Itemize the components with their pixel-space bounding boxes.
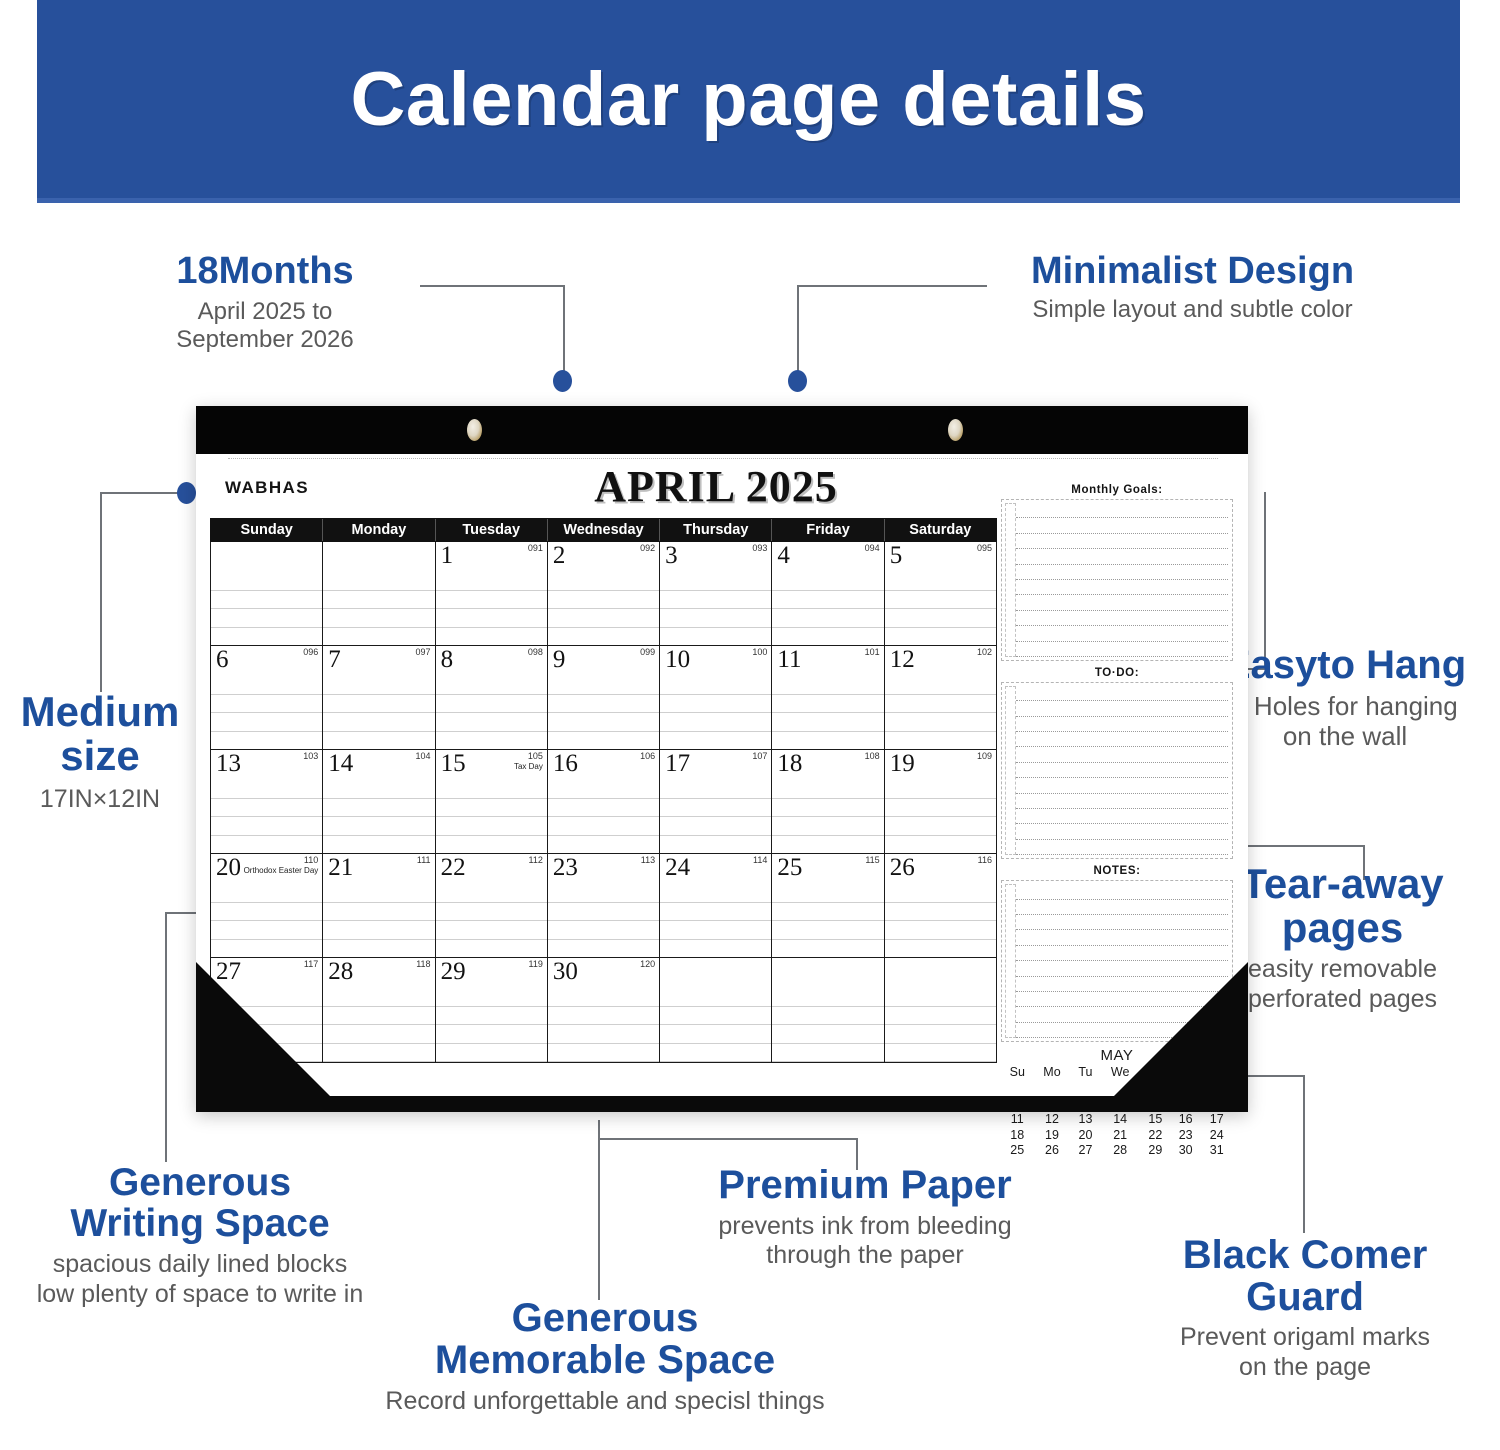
day-number: 24 <box>665 855 690 880</box>
dotted-write-line <box>1016 900 1228 915</box>
day-number: 18 <box>777 751 802 776</box>
day-cell[interactable]: 1091 <box>436 542 548 645</box>
callout-medium-size: Medium size 17IN×12IN <box>0 690 200 815</box>
callout-sub-guard: Prevent origaml marks on the page <box>1110 1323 1500 1382</box>
day-cell[interactable]: 26116 <box>885 854 996 957</box>
day-cell[interactable]: 29119 <box>436 958 548 1062</box>
writing-lines <box>772 884 883 957</box>
mini-day-cell: 17 <box>1200 1111 1233 1127</box>
callout-title-premium: Premium Paper <box>655 1165 1075 1207</box>
day-cell[interactable]: 19109 <box>885 750 996 853</box>
julian-day-number: 095 <box>977 544 992 553</box>
weekday-header-monday: Monday <box>323 519 435 541</box>
leader-line-minimalist-h <box>797 285 987 287</box>
day-cell[interactable]: 20110Orthodox Easter Day <box>211 854 323 957</box>
day-cell[interactable]: 4094 <box>772 542 884 645</box>
day-number: 5 <box>890 543 903 568</box>
hanging-hole-icon-left <box>467 419 482 441</box>
dotted-write-line <box>1016 809 1228 824</box>
day-number: 12 <box>890 647 915 672</box>
julian-day-number: 101 <box>865 648 880 657</box>
callout-title-memorable: Generous Memorable Space <box>325 1298 885 1381</box>
day-number: 15 <box>441 751 466 776</box>
julian-day-number: 109 <box>977 752 992 761</box>
day-cell[interactable]: 23113 <box>548 854 660 957</box>
writing-lines <box>211 780 322 853</box>
dotted-write-line <box>1016 626 1228 641</box>
day-cell[interactable]: 11101 <box>772 646 884 749</box>
mini-weekday-tu: Tu <box>1070 1064 1100 1080</box>
callout-sub-minimalist: Simple layout and subtle color <box>970 296 1415 324</box>
day-cell[interactable]: 30120 <box>548 958 660 1062</box>
calendar-product-image: WABHAS APRIL 2025 SundayMondayTuesdayWed… <box>196 406 1248 1112</box>
day-cell[interactable]: 22112 <box>436 854 548 957</box>
writing-lines <box>660 884 771 957</box>
mini-day-cell: 18 <box>1001 1127 1034 1143</box>
calendar-bottom-black-bar <box>196 1096 1248 1112</box>
julian-day-number: 110 <box>304 856 318 865</box>
day-number: 29 <box>441 959 466 984</box>
day-cell[interactable]: 13103 <box>211 750 323 853</box>
writing-lines <box>885 988 996 1062</box>
mini-day-cell: 26 <box>1034 1143 1071 1159</box>
writing-lines <box>548 988 659 1062</box>
julian-day-number: 099 <box>640 648 655 657</box>
day-number: 14 <box>328 751 353 776</box>
julian-day-number: 098 <box>528 648 543 657</box>
monthly-goals-label: Monthly Goals: <box>1001 484 1233 499</box>
calendar-week-row: 10912092309340945095 <box>211 542 996 646</box>
mini-day-cell: 19 <box>1034 1127 1071 1143</box>
dotted-write-line <box>1016 747 1228 762</box>
day-cell[interactable]: 6096 <box>211 646 323 749</box>
calendar-top-black-bar <box>196 406 1248 454</box>
dotted-write-line <box>1016 732 1228 747</box>
day-number: 9 <box>553 647 566 672</box>
writing-lines <box>436 988 547 1062</box>
leader-dot-medium <box>177 482 196 504</box>
day-number: 16 <box>553 751 578 776</box>
dotted-write-line <box>1016 717 1228 732</box>
dotted-write-line <box>1016 565 1228 580</box>
mini-day-cell: 28 <box>1100 1143 1139 1159</box>
callout-sub-18months: April 2025 to September 2026 <box>110 298 420 355</box>
day-cell[interactable]: 18108 <box>772 750 884 853</box>
mini-calendar-week-row: 25262728293031 <box>1001 1143 1233 1159</box>
mini-day-cell <box>1070 1080 1100 1096</box>
julian-day-number: 118 <box>416 960 430 969</box>
mini-day-cell: 20 <box>1070 1127 1100 1143</box>
day-cell[interactable]: 10100 <box>660 646 772 749</box>
dotted-write-line <box>1016 794 1228 809</box>
day-cell[interactable]: 3093 <box>660 542 772 645</box>
mini-weekday-su: Su <box>1001 1064 1034 1080</box>
day-cell[interactable]: 9099 <box>548 646 660 749</box>
weekday-header-sunday: Sunday <box>211 519 323 541</box>
writing-lines <box>772 572 883 645</box>
day-cell[interactable]: 5095 <box>885 542 996 645</box>
weekday-header-saturday: Saturday <box>885 519 996 541</box>
writing-lines <box>548 572 659 645</box>
black-corner-guard-left <box>196 962 346 1112</box>
leader-dot-months <box>553 370 572 392</box>
writing-lines <box>660 572 771 645</box>
writing-lines <box>436 572 547 645</box>
julian-day-number: 094 <box>865 544 880 553</box>
mini-day-cell <box>1034 1080 1071 1096</box>
day-cell[interactable]: 25115 <box>772 854 884 957</box>
dotted-write-line <box>1016 701 1228 716</box>
day-cell[interactable]: 21111 <box>323 854 435 957</box>
dotted-write-line <box>1016 884 1228 899</box>
writing-lines <box>436 676 547 749</box>
leader-line-memorable-v <box>598 1120 600 1300</box>
callout-title-18months: 18Months <box>110 252 420 292</box>
julian-day-number: 114 <box>753 856 767 865</box>
julian-day-number: 107 <box>752 752 767 761</box>
callout-title-writing: Generous Writing Space <box>0 1163 400 1244</box>
day-number: 23 <box>553 855 578 880</box>
dotted-write-line <box>1016 611 1228 626</box>
day-number: 3 <box>665 543 678 568</box>
day-number: 21 <box>328 855 353 880</box>
leader-line-months-v <box>563 285 565 380</box>
day-number: 7 <box>328 647 341 672</box>
callout-title-minimalist: Minimalist Design <box>970 252 1415 292</box>
julian-day-number: 097 <box>416 648 431 657</box>
mini-day-cell: 15 <box>1140 1111 1171 1127</box>
writing-lines <box>885 884 996 957</box>
mini-day-cell: 13 <box>1070 1111 1100 1127</box>
dotted-write-line <box>1016 595 1228 610</box>
leader-line-premium-h <box>598 1138 858 1140</box>
leader-line-minimalist-v <box>797 285 799 380</box>
writing-lines <box>772 988 883 1062</box>
julian-day-number: 113 <box>641 856 655 865</box>
dotted-write-line <box>1016 946 1228 961</box>
julian-day-number: 116 <box>978 856 992 865</box>
day-number: 25 <box>777 855 802 880</box>
mini-day-cell: 24 <box>1200 1127 1233 1143</box>
callout-sub-medium: 17IN×12IN <box>0 785 200 815</box>
header-underline <box>37 198 1460 203</box>
day-cell[interactable] <box>211 542 323 645</box>
day-number: 26 <box>890 855 915 880</box>
dotted-write-line <box>1016 930 1228 945</box>
day-number: 17 <box>665 751 690 776</box>
leader-line-hang-v <box>1264 492 1266 668</box>
mini-day-cell: 25 <box>1001 1143 1034 1159</box>
julian-day-number: 092 <box>640 544 655 553</box>
julian-day-number: 091 <box>528 544 543 553</box>
day-cell[interactable]: 16106 <box>548 750 660 853</box>
day-number: 22 <box>441 855 466 880</box>
dotted-write-line <box>1016 763 1228 778</box>
mini-day-cell: 31 <box>1200 1143 1233 1159</box>
writing-lines <box>436 780 547 853</box>
day-number: 19 <box>890 751 915 776</box>
callout-sub-memorable: Record unforgettable and specisl things <box>325 1387 885 1417</box>
header-banner: Calendar page details <box>37 0 1460 198</box>
writing-lines <box>323 884 434 957</box>
mini-day-cell: 16 <box>1171 1111 1201 1127</box>
writing-lines <box>772 780 883 853</box>
mini-day-cell: 22 <box>1140 1127 1171 1143</box>
mini-day-cell: 11 <box>1001 1111 1034 1127</box>
writing-lines <box>548 676 659 749</box>
day-cell[interactable]: 8098 <box>436 646 548 749</box>
callout-premium-paper: Premium Paper prevents ink from bleeding… <box>655 1165 1075 1271</box>
mini-day-cell: 14 <box>1100 1111 1139 1127</box>
callout-generous-writing-space: Generous Writing Space spacious daily li… <box>0 1163 400 1309</box>
day-number: 11 <box>777 647 801 672</box>
day-number: 2 <box>553 543 566 568</box>
callout-18months: 18Months April 2025 to September 2026 <box>110 252 420 354</box>
weekday-header-wednesday: Wednesday <box>548 519 660 541</box>
julian-day-number: 096 <box>303 648 318 657</box>
holiday-label: Tax Day <box>514 762 543 771</box>
dotted-write-line <box>1016 518 1228 533</box>
brand-logo: WABHAS <box>225 478 309 498</box>
dotted-write-line <box>1016 840 1228 855</box>
calendar-week-row: 131031410415105Tax Day161061710718108191… <box>211 750 996 854</box>
writing-lines <box>885 572 996 645</box>
dotted-write-line <box>1016 580 1228 595</box>
day-cell[interactable]: 2092 <box>548 542 660 645</box>
day-cell[interactable]: 17107 <box>660 750 772 853</box>
writing-lines <box>323 676 434 749</box>
holiday-label: Orthodox Easter Day <box>244 866 319 875</box>
writing-lines <box>211 676 322 749</box>
day-cell[interactable] <box>772 958 884 1062</box>
dotted-write-line <box>1016 686 1228 701</box>
leader-line-guard-v <box>1303 1075 1305 1233</box>
julian-day-number: 111 <box>417 856 431 865</box>
infographic-root: Calendar page details 18Months April 202… <box>0 0 1500 1450</box>
leader-dot-minimalist <box>788 370 807 392</box>
mini-day-cell: 30 <box>1171 1143 1201 1159</box>
weekday-header-friday: Friday <box>772 519 884 541</box>
calendar-week-row: 20110Orthodox Easter Day2111122112231132… <box>211 854 996 958</box>
writing-lines <box>885 676 996 749</box>
month-title: APRIL 2025 <box>456 461 976 512</box>
callout-generous-memorable-space: Generous Memorable Space Record unforget… <box>325 1298 885 1417</box>
julian-day-number: 103 <box>303 752 318 761</box>
callout-title-guard: Black Comer Guard <box>1110 1235 1500 1318</box>
dotted-write-line <box>1016 503 1228 518</box>
day-number: 6 <box>216 647 229 672</box>
julian-day-number: 120 <box>640 960 655 969</box>
day-number: 4 <box>777 543 790 568</box>
julian-day-number: 115 <box>865 856 879 865</box>
writing-lines <box>548 884 659 957</box>
day-cell[interactable] <box>660 958 772 1062</box>
mini-calendar-week-row: 18192021222324 <box>1001 1127 1233 1143</box>
julian-day-number: 119 <box>528 960 542 969</box>
day-cell[interactable]: 12102 <box>885 646 996 749</box>
callout-title-medium: Medium size <box>0 690 200 777</box>
dotted-write-line <box>1016 824 1228 839</box>
leader-line-writing-v <box>165 912 167 1162</box>
day-cell[interactable]: 24114 <box>660 854 772 957</box>
julian-day-number: 102 <box>977 648 992 657</box>
writing-lines <box>660 780 771 853</box>
writing-lines <box>323 572 434 645</box>
julian-day-number: 093 <box>752 544 767 553</box>
writing-lines <box>885 780 996 853</box>
monthly-goals-lines[interactable] <box>1001 499 1233 661</box>
julian-day-number: 108 <box>865 752 880 761</box>
day-number: 8 <box>441 647 454 672</box>
writing-lines <box>548 780 659 853</box>
todo-lines[interactable] <box>1001 682 1233 859</box>
day-cell[interactable]: 15105Tax Day <box>436 750 548 853</box>
page-title: Calendar page details <box>350 56 1146 143</box>
mini-calendar-week-row: 11121314151617 <box>1001 1111 1233 1127</box>
day-cell[interactable] <box>323 542 435 645</box>
day-number: 10 <box>665 647 690 672</box>
day-number: 13 <box>216 751 241 776</box>
writing-lines <box>211 884 322 957</box>
mini-day-cell <box>1001 1080 1034 1096</box>
julian-day-number: 104 <box>416 752 431 761</box>
julian-day-number: 105 <box>528 752 543 761</box>
mini-day-cell: 21 <box>1100 1127 1139 1143</box>
hanging-hole-icon-right <box>948 419 963 441</box>
julian-day-number: 106 <box>640 752 655 761</box>
mini-day-cell: 27 <box>1070 1143 1100 1159</box>
mini-day-cell: 29 <box>1140 1143 1171 1159</box>
dotted-write-line <box>1016 915 1228 930</box>
writing-lines <box>436 884 547 957</box>
writing-lines <box>772 676 883 749</box>
julian-day-number: 112 <box>528 856 542 865</box>
todo-label: TO·DO: <box>1001 661 1233 682</box>
dotted-write-line <box>1016 642 1228 657</box>
callout-minimalist-design: Minimalist Design Simple layout and subt… <box>970 252 1415 324</box>
writing-lines <box>211 572 322 645</box>
day-cell[interactable] <box>885 958 996 1062</box>
calendar-week-row: 6096709780989099101001110112102 <box>211 646 996 750</box>
leader-line-months-h <box>420 285 565 287</box>
dotted-write-line <box>1016 549 1228 564</box>
weekday-header-thursday: Thursday <box>660 519 772 541</box>
day-cell[interactable]: 14104 <box>323 750 435 853</box>
julian-day-number: 100 <box>752 648 767 657</box>
weekday-header-tuesday: Tuesday <box>436 519 548 541</box>
day-number: 1 <box>441 543 454 568</box>
perforation-line <box>228 458 1218 459</box>
mini-day-cell: 12 <box>1034 1111 1071 1127</box>
day-number: 30 <box>553 959 578 984</box>
callout-sub-premium: prevents ink from bleeding through the p… <box>655 1212 1075 1271</box>
weekday-header-row: SundayMondayTuesdayWednesdayThursdayFrid… <box>210 518 997 542</box>
dotted-write-line <box>1016 534 1228 549</box>
mini-weekday-mo: Mo <box>1034 1064 1071 1080</box>
writing-lines <box>660 988 771 1062</box>
dotted-write-line <box>1016 778 1228 793</box>
day-cell[interactable]: 7097 <box>323 646 435 749</box>
black-corner-guard-right <box>1098 962 1248 1112</box>
writing-lines <box>323 780 434 853</box>
leader-line-medium-v <box>100 492 102 692</box>
callout-black-corner-guard: Black Comer Guard Prevent origaml marks … <box>1110 1235 1500 1382</box>
day-number: 20 <box>216 855 241 880</box>
mini-day-cell: 23 <box>1171 1127 1201 1143</box>
writing-lines <box>660 676 771 749</box>
notes-label: NOTES: <box>1001 859 1233 880</box>
